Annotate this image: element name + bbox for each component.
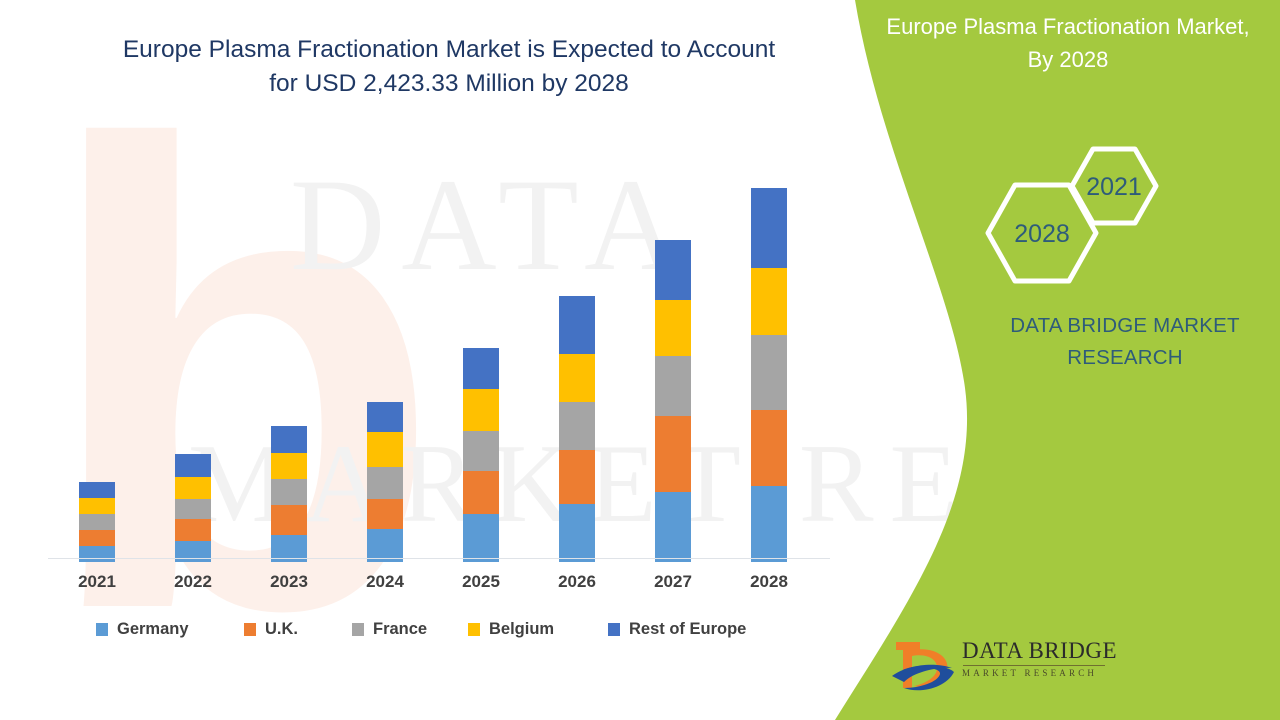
bar-segment-rest-of-europe xyxy=(655,240,691,300)
legend-swatch-icon xyxy=(608,623,620,636)
legend-label: U.K. xyxy=(265,620,298,639)
logo-divider xyxy=(963,665,1105,666)
x-axis-labels: 20212022202320242025202620272028 xyxy=(48,572,830,600)
bar-segment-u-k xyxy=(463,471,499,514)
page-title-line-1: Europe Plasma Fractionation Market is Ex… xyxy=(123,36,775,63)
bar-segment-france xyxy=(271,479,307,505)
bar-segment-u-k xyxy=(175,519,211,541)
bar-segment-france xyxy=(655,356,691,416)
hexagon-group: 2021 2028 xyxy=(985,145,1185,290)
bar-segment-u-k xyxy=(751,410,787,486)
legend-item-rest-of-europe[interactable]: Rest of Europe xyxy=(608,616,746,642)
stacked-bar-chart xyxy=(48,170,830,562)
bar-2027[interactable] xyxy=(655,240,691,562)
bar-segment-germany xyxy=(655,492,691,562)
bar-segment-rest-of-europe xyxy=(463,348,499,389)
bar-segment-germany xyxy=(79,546,115,562)
hexagon-2021-label: 2021 xyxy=(1086,173,1142,201)
bar-segment-france xyxy=(559,402,595,450)
legend-item-belgium[interactable]: Belgium xyxy=(468,616,554,642)
legend-swatch-icon xyxy=(244,623,256,636)
bar-segment-rest-of-europe xyxy=(367,402,403,432)
panel-brand-line-2: RESEARCH xyxy=(1000,342,1250,374)
bar-segment-u-k xyxy=(79,530,115,546)
panel-title-line-1: Europe Plasma Fractionation Market, xyxy=(856,10,1280,43)
bar-segment-belgium xyxy=(463,389,499,431)
bar-segment-u-k xyxy=(367,499,403,529)
legend-item-germany[interactable]: Germany xyxy=(96,616,189,642)
bar-2028[interactable] xyxy=(751,188,787,562)
x-label-2021: 2021 xyxy=(49,572,145,592)
logo-text: DATA BRIDGE MARKET RESEARCH xyxy=(962,638,1112,679)
bar-segment-u-k xyxy=(271,505,307,535)
x-label-2028: 2028 xyxy=(721,572,817,592)
legend-label: Germany xyxy=(117,620,189,639)
panel-brand-line-1: DATA BRIDGE MARKET xyxy=(1000,310,1250,342)
bar-segment-rest-of-europe xyxy=(751,188,787,268)
page-title: Europe Plasma Fractionation Market is Ex… xyxy=(78,33,820,101)
bar-segment-u-k xyxy=(655,416,691,492)
bar-2021[interactable] xyxy=(79,482,115,562)
bar-segment-u-k xyxy=(559,450,595,504)
legend-swatch-icon xyxy=(96,623,108,636)
bar-segment-belgium xyxy=(367,432,403,467)
bar-segment-germany xyxy=(559,504,595,562)
bar-2022[interactable] xyxy=(175,454,211,562)
bar-segment-france xyxy=(367,467,403,499)
legend-swatch-icon xyxy=(352,623,364,636)
legend-item-france[interactable]: France xyxy=(352,616,427,642)
bar-segment-belgium xyxy=(271,453,307,479)
company-logo: DATA BRIDGE MARKET RESEARCH xyxy=(890,634,1105,700)
bar-segment-belgium xyxy=(655,300,691,356)
bar-segment-belgium xyxy=(79,498,115,514)
x-label-2022: 2022 xyxy=(145,572,241,592)
logo-mark-icon xyxy=(890,636,960,696)
bar-segment-germany xyxy=(751,486,787,562)
logo-name: DATA BRIDGE xyxy=(962,638,1112,664)
hexagon-2028-label: 2028 xyxy=(1014,220,1070,248)
bar-segment-france xyxy=(751,335,787,410)
bar-segment-belgium xyxy=(559,354,595,402)
logo-tagline: MARKET RESEARCH xyxy=(962,668,1112,679)
x-label-2027: 2027 xyxy=(625,572,721,592)
bar-segment-rest-of-europe xyxy=(559,296,595,354)
bar-segment-rest-of-europe xyxy=(271,426,307,453)
bar-2024[interactable] xyxy=(367,402,403,562)
panel-brand-name: DATA BRIDGE MARKET RESEARCH xyxy=(1000,310,1250,374)
chart-legend: GermanyU.K.FranceBelgiumRest of Europe xyxy=(96,616,816,642)
legend-item-u-k[interactable]: U.K. xyxy=(244,616,298,642)
panel-title: Europe Plasma Fractionation Market, By 2… xyxy=(856,10,1280,76)
bar-segment-france xyxy=(175,499,211,519)
x-label-2024: 2024 xyxy=(337,572,433,592)
bar-2025[interactable] xyxy=(463,348,499,562)
panel-title-line-2: By 2028 xyxy=(856,43,1280,76)
legend-label: Belgium xyxy=(489,620,554,639)
bar-segment-rest-of-europe xyxy=(79,482,115,498)
bar-segment-france xyxy=(463,431,499,471)
x-label-2026: 2026 xyxy=(529,572,625,592)
infographic-canvas: b DATA MARKET RESEARCH Europe Plasma Fra… xyxy=(0,0,1280,720)
bar-segment-belgium xyxy=(175,477,211,499)
bar-segment-belgium xyxy=(751,268,787,335)
x-axis-line xyxy=(48,558,830,559)
bar-2023[interactable] xyxy=(271,426,307,562)
x-label-2023: 2023 xyxy=(241,572,337,592)
bar-segment-france xyxy=(79,514,115,530)
x-label-2025: 2025 xyxy=(433,572,529,592)
bar-segment-rest-of-europe xyxy=(175,454,211,477)
legend-swatch-icon xyxy=(468,623,480,636)
bar-2026[interactable] xyxy=(559,296,595,562)
legend-label: France xyxy=(373,620,427,639)
bar-segment-germany xyxy=(463,514,499,562)
legend-label: Rest of Europe xyxy=(629,620,746,639)
page-title-line-2: for USD 2,423.33 Million by 2028 xyxy=(78,67,820,101)
